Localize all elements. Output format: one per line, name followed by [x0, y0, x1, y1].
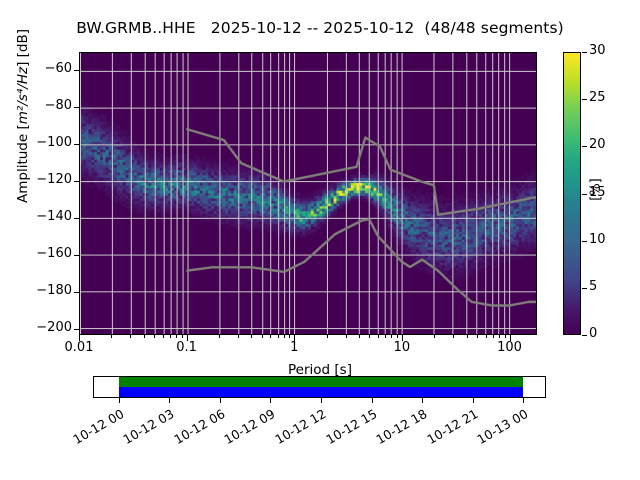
x-tick-label: 100: [470, 340, 550, 355]
y-tick-label: −80: [0, 98, 72, 113]
timeline-tick-mark: [372, 398, 373, 403]
x-tick-minor: [163, 335, 164, 338]
x-tick-minor: [359, 335, 360, 338]
noise-model-curves: [80, 53, 536, 334]
colorbar-tick-label: 5: [589, 279, 597, 294]
x-tick-label: 10: [362, 340, 442, 355]
y-tick-mark: [74, 181, 79, 182]
timeline-tick-label: 10-13 00: [469, 406, 530, 450]
x-tick-minor: [467, 335, 468, 338]
timeline-tick-mark: [169, 398, 170, 403]
x-tick-minor: [397, 335, 398, 338]
timeline-tick-mark: [321, 398, 322, 403]
colorbar-tick-label: 20: [589, 137, 606, 152]
timeline-tick-label: 10-12 21: [419, 406, 480, 450]
x-tick-minor: [453, 335, 454, 338]
x-tick-minor: [289, 335, 290, 338]
colorbar-tick-label: 10: [589, 232, 606, 247]
timeline-tick-mark: [119, 398, 120, 403]
x-tick-minor: [170, 335, 171, 338]
colorbar-label: [%]: [589, 160, 604, 220]
colorbar-tick-mark: [582, 335, 587, 336]
colorbar-tick-mark: [582, 241, 587, 242]
y-tick-mark: [74, 107, 79, 108]
timeline-tick-mark: [422, 398, 423, 403]
data-coverage-timeline[interactable]: [93, 376, 546, 398]
y-tick-label: −60: [0, 61, 72, 76]
ppsd-axes: [79, 52, 537, 335]
y-tick-mark: [74, 329, 79, 330]
x-tick-minor: [477, 335, 478, 338]
colorbar-tick-label: 25: [589, 90, 606, 105]
colorbar-tick-label: 0: [589, 326, 597, 341]
timeline-tick-label: 10-12 06: [166, 406, 227, 450]
y-tick-label: −140: [0, 209, 72, 224]
y-tick-label: −120: [0, 172, 72, 187]
x-tick-label: 1: [254, 340, 334, 355]
x-tick-minor: [493, 335, 494, 338]
colorbar: [563, 52, 581, 335]
y-tick-label: −100: [0, 135, 72, 150]
colorbar-tick-label: 30: [589, 43, 606, 58]
x-tick-minor: [385, 335, 386, 338]
timeline-tick-label: 10-12 00: [65, 406, 126, 450]
x-tick-minor: [378, 335, 379, 338]
colorbar-tick-mark: [582, 288, 587, 289]
timeline-tick-label: 10-12 03: [116, 406, 177, 450]
timeline-tick-label: 10-12 15: [318, 406, 379, 450]
y-tick-mark: [74, 218, 79, 219]
timeline-tick-label: 10-12 18: [368, 406, 429, 450]
timeline-tick-mark: [270, 398, 271, 403]
x-tick-minor: [434, 335, 435, 338]
y-tick-label: −180: [0, 283, 72, 298]
x-tick-minor: [219, 335, 220, 338]
colorbar-tick-mark: [582, 194, 587, 195]
plot-title: BW.GRMB..HHE 2025-10-12 -- 2025-10-12 (4…: [0, 19, 640, 37]
timeline-tick-mark: [523, 398, 524, 403]
x-tick-minor: [486, 335, 487, 338]
x-tick-minor: [238, 335, 239, 338]
colorbar-tick-mark: [582, 99, 587, 100]
x-tick-minor: [270, 335, 271, 338]
x-tick-minor: [251, 335, 252, 338]
colorbar-tick-mark: [582, 52, 587, 53]
x-tick-label: 0.01: [39, 340, 119, 355]
x-tick-minor: [369, 335, 370, 338]
timeline-data-availability-bar: [119, 377, 523, 387]
y-tick-mark: [74, 255, 79, 256]
x-tick-minor: [111, 335, 112, 338]
x-tick-minor: [499, 335, 500, 338]
x-tick-minor: [182, 335, 183, 338]
x-tick-minor: [278, 335, 279, 338]
x-tick-label: 0.1: [147, 340, 227, 355]
timeline-tick-label: 10-12 09: [217, 406, 278, 450]
x-tick-minor: [505, 335, 506, 338]
x-tick-minor: [130, 335, 131, 338]
x-tick-minor: [284, 335, 285, 338]
timeline-psd-segments-bar: [119, 387, 523, 397]
timeline-tick-label: 10-12 12: [267, 406, 328, 450]
timeline-tick-mark: [473, 398, 474, 403]
y-tick-mark: [74, 292, 79, 293]
x-tick-minor: [346, 335, 347, 338]
x-tick-minor: [262, 335, 263, 338]
y-tick-mark: [74, 70, 79, 71]
y-tick-mark: [74, 144, 79, 145]
x-tick-minor: [144, 335, 145, 338]
x-tick-minor: [327, 335, 328, 338]
x-tick-minor: [154, 335, 155, 338]
y-tick-label: −200: [0, 320, 72, 335]
y-tick-label: −160: [0, 246, 72, 261]
timeline-tick-mark: [220, 398, 221, 403]
colorbar-tick-mark: [582, 146, 587, 147]
x-tick-minor: [391, 335, 392, 338]
x-tick-minor: [176, 335, 177, 338]
